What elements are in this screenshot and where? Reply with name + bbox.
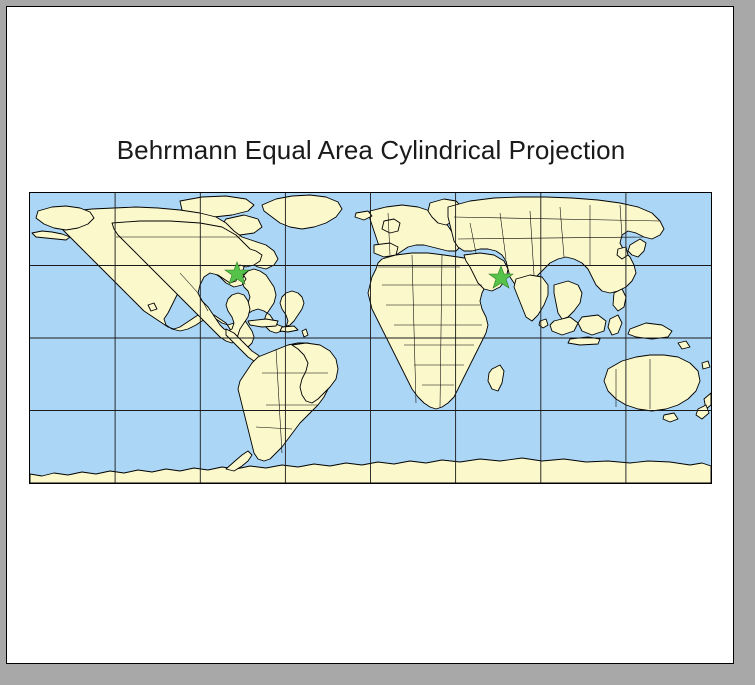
land-fiji xyxy=(702,361,710,369)
page-title: Behrmann Equal Area Cylindrical Projecti… xyxy=(7,135,735,166)
screenshot-root: Behrmann Equal Area Cylindrical Projecti… xyxy=(0,0,755,685)
map-canvas[interactable] xyxy=(29,192,712,484)
land-iberia xyxy=(374,243,398,257)
map-document-page: Behrmann Equal Area Cylindrical Projecti… xyxy=(6,6,734,664)
land-cuba xyxy=(248,319,278,327)
world-map-svg xyxy=(30,193,711,483)
